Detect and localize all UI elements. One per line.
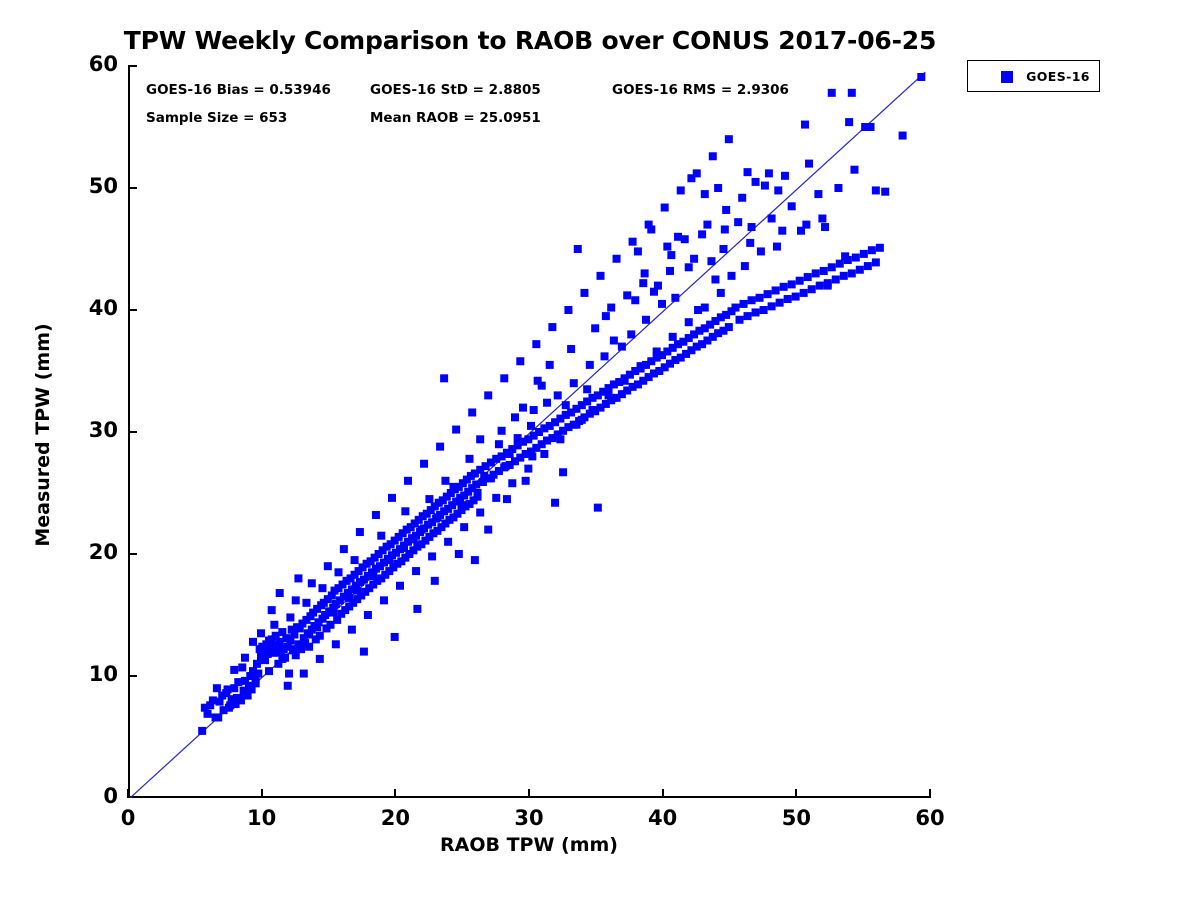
scatter-point	[618, 343, 626, 351]
scatter-point	[780, 283, 788, 291]
y-axis-ticklabel: 0	[58, 784, 118, 808]
scatter-point	[484, 391, 492, 399]
scatter-point	[559, 468, 567, 476]
scatter-point	[538, 382, 546, 390]
scatter-point	[564, 306, 572, 314]
scatter-point	[574, 245, 582, 253]
scatter-point	[476, 509, 484, 517]
scatter-point	[824, 282, 832, 290]
scatter-point	[788, 202, 796, 210]
scatter-point	[532, 340, 540, 348]
scatter-point	[832, 276, 840, 284]
scatter-point	[703, 221, 711, 229]
scatter-point	[845, 118, 853, 126]
scatter-point	[511, 413, 519, 421]
scatter-point	[444, 538, 452, 546]
scatter-point	[634, 247, 642, 255]
scatter-point	[498, 427, 506, 435]
scatter-point	[285, 670, 293, 678]
scatter-point	[736, 316, 744, 324]
scatter-point	[850, 166, 858, 174]
scatter-point	[476, 435, 484, 443]
scatter-point	[663, 243, 671, 251]
scatter-point	[353, 587, 361, 595]
scatter-point	[254, 670, 262, 678]
scatter-point	[506, 450, 514, 458]
scatter-point	[821, 223, 829, 231]
scatter-point	[500, 374, 508, 382]
scatter-point	[316, 655, 324, 663]
scatter-point	[685, 318, 693, 326]
scatter-point	[452, 426, 460, 434]
scatter-point	[431, 577, 439, 585]
scatter-point	[332, 640, 340, 648]
scatter-point	[412, 567, 420, 575]
scatter-point	[289, 645, 297, 653]
x-axis-ticklabel: 50	[766, 806, 826, 830]
scatter-point	[268, 606, 276, 614]
x-axis-tick	[261, 789, 263, 798]
x-axis-tick	[929, 789, 931, 798]
scatter-point	[417, 526, 425, 534]
scatter-point	[740, 300, 748, 308]
scatter-point	[345, 594, 353, 602]
scatter-point	[631, 296, 639, 304]
scatter-point	[484, 526, 492, 534]
scatter-point	[329, 609, 337, 617]
scatter-point	[669, 333, 677, 341]
y-axis-label: Measured TPW (mm)	[32, 315, 54, 555]
scatter-point	[372, 511, 380, 519]
scatter-point	[474, 489, 482, 497]
scatter-point	[602, 312, 610, 320]
scatter-point	[257, 629, 265, 637]
y-axis-tick	[128, 431, 137, 433]
x-axis-ticklabel: 60	[900, 806, 960, 830]
scatter-point	[776, 299, 784, 307]
scatter-point	[522, 477, 530, 485]
scatter-point	[852, 254, 860, 262]
scatter-point	[828, 263, 836, 271]
scatter-point	[818, 215, 826, 223]
scatter-point	[687, 174, 695, 182]
scatter-point	[605, 391, 613, 399]
scatter-point	[213, 684, 221, 692]
scatter-point	[613, 255, 621, 263]
scatter-point	[495, 440, 503, 448]
x-axis-tick	[795, 789, 797, 798]
scatter-point	[449, 483, 457, 491]
scatter-point	[335, 568, 343, 576]
scatter-point	[764, 290, 772, 298]
scatter-point	[340, 545, 348, 553]
scatter-point	[556, 435, 564, 443]
scatter-point	[707, 257, 715, 265]
scatter-point	[768, 215, 776, 223]
y-axis-tick	[128, 65, 137, 67]
scatter-point	[313, 623, 321, 631]
scatter-point	[814, 190, 822, 198]
scatter-point	[457, 501, 465, 509]
scatter-point	[639, 279, 647, 287]
scatter-point	[674, 233, 682, 241]
scatter-point	[804, 273, 812, 281]
scatter-point	[868, 246, 876, 254]
scatter-point	[808, 285, 816, 293]
scatter-point	[249, 638, 257, 646]
scatter-point	[899, 132, 907, 140]
scatter-point	[768, 302, 776, 310]
scatter-point	[607, 304, 615, 312]
scatter-point	[404, 477, 412, 485]
scatter-point	[401, 507, 409, 515]
scatter-point	[441, 477, 449, 485]
y-axis-ticklabel: 10	[58, 662, 118, 686]
scatter-point	[917, 73, 925, 81]
scatter-point	[722, 206, 730, 214]
scatter-point	[647, 225, 655, 233]
scatter-point	[527, 422, 535, 430]
scatter-point	[578, 416, 586, 424]
scatter-point	[784, 295, 792, 303]
scatter-point	[425, 495, 433, 503]
scatter-point	[752, 308, 760, 316]
scatter-point	[530, 406, 538, 414]
x-axis-tick	[127, 789, 129, 798]
scatter-point	[276, 589, 284, 597]
scatter-point	[380, 596, 388, 604]
scatter-point	[286, 613, 294, 621]
x-axis-ticklabel: 40	[633, 806, 693, 830]
scatter-point	[685, 263, 693, 271]
scatter-point	[455, 550, 463, 558]
scatter-point	[253, 660, 261, 668]
scatter-point	[738, 194, 746, 202]
scatter-point	[802, 221, 810, 229]
scatter-point	[812, 269, 820, 277]
y-axis-ticklabel: 60	[58, 52, 118, 76]
scatter-point	[324, 562, 332, 570]
scatter-point	[548, 323, 556, 331]
y-axis-ticklabel: 50	[58, 174, 118, 198]
scatter-point	[641, 269, 649, 277]
scatter-plot-canvas	[130, 66, 932, 798]
scatter-point	[503, 495, 511, 503]
scatter-point	[816, 282, 824, 290]
scatter-point	[642, 316, 650, 324]
scatter-point	[204, 710, 212, 718]
scatter-point	[876, 244, 884, 252]
scatter-point	[860, 250, 868, 258]
x-axis-tick	[528, 789, 530, 798]
scatter-point	[872, 258, 880, 266]
scatter-point	[757, 247, 765, 255]
scatter-point	[658, 300, 666, 308]
scatter-point	[284, 682, 292, 690]
scatter-point	[773, 243, 781, 251]
scatter-point	[725, 135, 733, 143]
scatter-point	[554, 391, 562, 399]
scatter-point	[694, 306, 702, 314]
scatter-point	[528, 452, 536, 460]
scatter-point	[801, 121, 809, 129]
scatter-point	[396, 582, 404, 590]
page-title: TPW Weekly Comparison to RAOB over CONUS…	[0, 26, 1060, 55]
scatter-point	[701, 190, 709, 198]
scatter-point	[591, 324, 599, 332]
scatter-point	[468, 408, 476, 416]
scatter-point	[583, 385, 591, 393]
scatter-point	[725, 323, 733, 331]
scatter-point	[466, 455, 474, 463]
scatter-point	[433, 513, 441, 521]
scatter-point	[667, 251, 675, 259]
scatter-point	[765, 169, 773, 177]
scatter-point	[760, 306, 768, 314]
x-axis-ticklabel: 20	[365, 806, 425, 830]
y-axis-tick	[128, 309, 137, 311]
scatter-point	[661, 204, 669, 212]
legend-label: GOES-16	[1020, 69, 1096, 84]
scatter-point	[872, 186, 880, 194]
scatter-point	[650, 288, 658, 296]
scatter-point	[551, 499, 559, 507]
scatter-point	[502, 462, 510, 470]
scatter-point	[848, 269, 856, 277]
scatter-point	[351, 556, 359, 564]
scatter-point	[709, 152, 717, 160]
scatter-point	[728, 272, 736, 280]
scatter-point	[198, 727, 206, 735]
x-axis-tick	[394, 789, 396, 798]
scatter-point	[514, 434, 522, 442]
scatter-point	[580, 289, 588, 297]
x-axis-label: RAOB TPW (mm)	[128, 834, 930, 856]
scatter-point	[828, 89, 836, 97]
scatter-point	[543, 399, 551, 407]
scatter-point	[567, 345, 575, 353]
scatter-point	[761, 182, 769, 190]
scatter-point	[653, 347, 661, 355]
scatter-point	[236, 694, 244, 702]
scatter-point	[305, 631, 313, 639]
legend-swatch-icon	[1001, 71, 1013, 83]
scatter-point	[302, 599, 310, 607]
scatter-point	[413, 605, 421, 613]
scatter-point	[836, 260, 844, 268]
scatter-point	[792, 293, 800, 301]
scatter-point	[774, 186, 782, 194]
scatter-point	[627, 330, 635, 338]
scatter-point	[601, 352, 609, 360]
scatter-point	[300, 670, 308, 678]
scatter-point	[671, 294, 679, 302]
scatter-point	[318, 584, 326, 592]
scatter-point	[460, 523, 468, 531]
scatter-point	[666, 267, 674, 275]
scatter-point	[471, 556, 479, 564]
scatter-point	[238, 663, 246, 671]
scatter-point	[778, 227, 786, 235]
scatter-point	[364, 611, 372, 619]
scatter-point	[623, 291, 631, 299]
scatter-point	[391, 633, 399, 641]
scatter-point	[252, 679, 260, 687]
scatter-point	[428, 552, 436, 560]
scatter-point	[356, 528, 364, 536]
x-axis-ticklabel: 10	[232, 806, 292, 830]
y-axis-ticklabel: 20	[58, 540, 118, 564]
y-axis-ticklabel: 40	[58, 296, 118, 320]
y-axis-ticklabel: 30	[58, 418, 118, 442]
scatter-point	[316, 632, 324, 640]
scatter-point	[834, 184, 842, 192]
scatter-point	[734, 218, 742, 226]
scatter-point	[841, 252, 849, 260]
x-axis-tick	[662, 789, 664, 798]
scatter-point	[241, 654, 249, 662]
scatter-point	[848, 89, 856, 97]
scatter-point	[721, 225, 729, 233]
x-axis-ticklabel: 0	[98, 806, 158, 830]
y-axis-tick	[128, 675, 137, 677]
scatter-point	[588, 406, 596, 414]
scatter-point	[265, 667, 273, 675]
scatter-point	[820, 267, 828, 275]
scatter-point	[637, 362, 645, 370]
scatter-point	[796, 277, 804, 285]
scatter-point	[586, 361, 594, 369]
scatter-point	[420, 460, 428, 468]
plot-area	[128, 66, 930, 798]
scatter-point	[781, 172, 789, 180]
x-axis-ticklabel: 30	[499, 806, 559, 830]
scatter-point	[594, 504, 602, 512]
scatter-point	[308, 579, 316, 587]
scatter-point	[677, 186, 685, 194]
scatter-point	[230, 666, 238, 674]
scatter-point	[519, 404, 527, 412]
scatter-point	[377, 532, 385, 540]
scatter-point	[748, 223, 756, 231]
scatter-point	[400, 544, 408, 552]
scatter-point	[440, 374, 448, 382]
scatter-point	[690, 255, 698, 263]
scatter-point	[748, 296, 756, 304]
scatter-point	[292, 596, 300, 604]
y-axis-tick	[128, 553, 137, 555]
scatter-point	[629, 238, 637, 246]
chart-figure: TPW Weekly Comparison to RAOB over CONUS…	[0, 0, 1200, 900]
scatter-point	[698, 230, 706, 238]
scatter-point	[741, 262, 749, 270]
scatter-point	[546, 361, 554, 369]
scatter-point	[385, 556, 393, 564]
scatter-point	[864, 262, 872, 270]
scatter-point	[610, 337, 618, 345]
scatter-point	[714, 184, 722, 192]
scatter-point	[746, 239, 754, 247]
scatter-point	[732, 304, 740, 312]
scatter-point	[516, 357, 524, 365]
scatter-point	[788, 280, 796, 288]
scatter-point	[717, 289, 725, 297]
scatter-point	[621, 377, 629, 385]
scatter-point	[840, 272, 848, 280]
scatter-point	[487, 474, 495, 482]
scatter-point	[524, 465, 532, 473]
scatter-point	[508, 479, 516, 487]
scatter-point	[756, 294, 764, 302]
scatter-point	[597, 272, 605, 280]
scatter-point	[540, 450, 548, 458]
scatter-point	[369, 572, 377, 580]
scatter-point	[711, 276, 719, 284]
scatter-point	[225, 704, 233, 712]
y-axis-tick	[128, 187, 137, 189]
scatter-point	[492, 494, 500, 502]
scatter-point	[744, 168, 752, 176]
scatter-point	[278, 655, 286, 663]
scatter-point	[744, 312, 752, 320]
scatter-point	[562, 401, 570, 409]
scatter-point	[294, 574, 302, 582]
scatter-point	[772, 286, 780, 294]
legend[interactable]: GOES-16	[967, 60, 1100, 92]
scatter-point	[214, 713, 222, 721]
scatter-point	[570, 379, 578, 387]
scatter-point	[719, 245, 727, 253]
scatter-point	[800, 289, 808, 297]
scatter-point	[388, 494, 396, 502]
scatter-point	[270, 621, 278, 629]
scatter-point	[805, 160, 813, 168]
scatter-point	[856, 266, 864, 274]
scatter-point	[881, 188, 889, 196]
scatter-point	[752, 178, 760, 186]
scatter-point	[867, 123, 875, 131]
scatter-point	[409, 535, 417, 543]
scatter-point	[436, 443, 444, 451]
scatter-point	[360, 648, 368, 656]
scatter-point	[305, 643, 313, 651]
scatter-point	[348, 626, 356, 634]
